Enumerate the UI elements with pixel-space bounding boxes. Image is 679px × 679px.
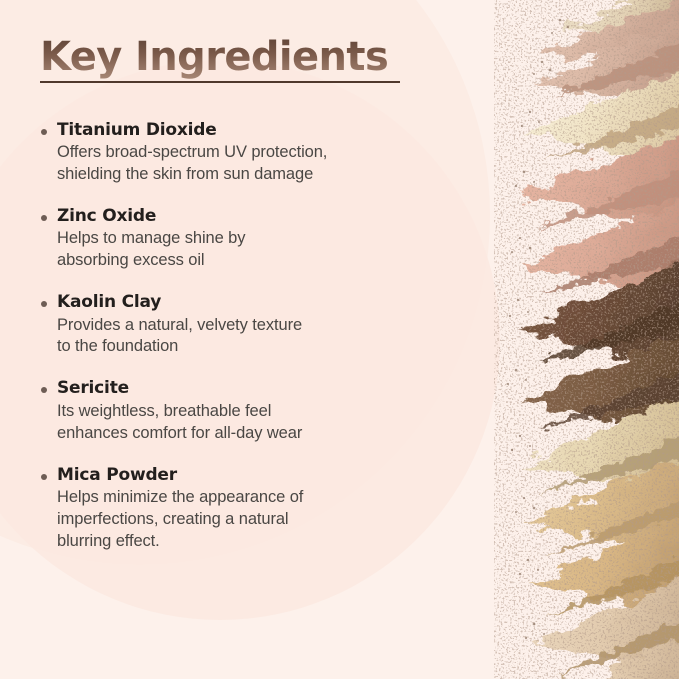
- ingredient-description: Its weightless, breathable feel enhances…: [57, 401, 440, 445]
- page-title-block: Key Ingredients: [40, 36, 440, 83]
- bullet-icon: [41, 215, 47, 221]
- list-item: Zinc Oxide Helps to manage shine by abso…: [40, 206, 440, 272]
- page-title: Key Ingredients: [40, 36, 440, 79]
- list-item: Kaolin Clay Provides a natural, velvety …: [40, 292, 440, 358]
- ingredient-description: Helps to manage shine by absorbing exces…: [57, 228, 440, 272]
- powder-swatch-image: [494, 0, 679, 679]
- bullet-icon: [41, 129, 47, 135]
- content-column: Key Ingredients Titanium Dioxide Offers …: [0, 0, 470, 679]
- ingredients-infographic: Key Ingredients Titanium Dioxide Offers …: [0, 0, 679, 679]
- ingredient-name: Titanium Dioxide: [57, 120, 440, 141]
- ingredients-list: Titanium Dioxide Offers broad-spectrum U…: [40, 120, 440, 553]
- ingredient-description: Provides a natural, velvety texture to t…: [57, 315, 440, 359]
- ingredient-name: Kaolin Clay: [57, 292, 440, 313]
- list-item: Sericite Its weightless, breathable feel…: [40, 378, 440, 444]
- title-underline: [40, 81, 400, 83]
- ingredient-name: Sericite: [57, 378, 440, 399]
- bullet-icon: [41, 474, 47, 480]
- ingredient-name: Mica Powder: [57, 465, 440, 486]
- list-item: Mica Powder Helps minimize the appearanc…: [40, 465, 440, 553]
- ingredient-description: Helps minimize the appearance of imperfe…: [57, 487, 440, 553]
- bullet-icon: [41, 387, 47, 393]
- bullet-icon: [41, 301, 47, 307]
- ingredient-name: Zinc Oxide: [57, 206, 440, 227]
- list-item: Titanium Dioxide Offers broad-spectrum U…: [40, 120, 440, 186]
- ingredient-description: Offers broad-spectrum UV protection, shi…: [57, 142, 440, 186]
